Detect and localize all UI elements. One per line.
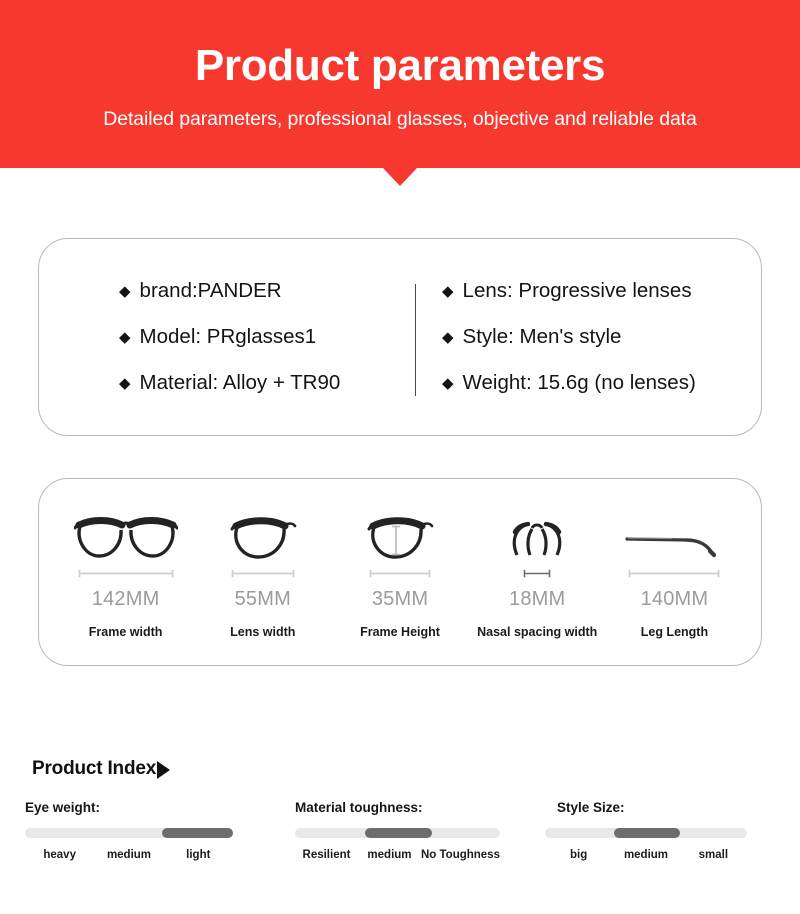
nose-bridge-icon: [499, 507, 575, 561]
measurement-label: Lens width: [230, 625, 295, 639]
lens-height-icon: [365, 507, 435, 561]
index-tick-label: light: [164, 849, 233, 861]
index-slider-track[interactable]: [545, 828, 747, 838]
measurement-bar: [231, 569, 295, 578]
list-item-label: Lens: Progressive lenses: [463, 279, 692, 303]
dimension-line-icon: [628, 569, 720, 578]
measurement-bar: [369, 569, 431, 578]
index-tick-labels: heavy medium light: [25, 849, 233, 861]
index-tick-label: medium: [358, 849, 421, 861]
measurement-value: 35MM: [372, 588, 428, 611]
index-group-style-size: Style Size: big medium small: [532, 800, 800, 861]
index-tick-label: small: [680, 849, 747, 861]
index-slider-track[interactable]: [25, 828, 233, 838]
diamond-bullet-icon: ◆: [119, 330, 131, 345]
dimension-line-icon: [523, 569, 551, 578]
measurement-value: 18MM: [509, 588, 565, 611]
index-slider-fill[interactable]: [614, 828, 681, 838]
measurement-column: 18MM Nasal spacing width: [469, 507, 606, 639]
index-tick-label: Resilient: [295, 849, 358, 861]
product-index-label: Product Index: [32, 758, 156, 780]
measurement-column: 35MM Frame Height: [331, 507, 468, 639]
product-parameters-page: Product parameters Detailed parameters, …: [0, 0, 800, 914]
measurement-column: 140MM Leg Length: [606, 507, 743, 639]
specification-grid: ◆ brand:PANDER ◆ Model: PRglasses1 ◆ Mat…: [39, 239, 761, 435]
measurement-value: 55MM: [235, 588, 291, 611]
dimension-line-icon: [231, 569, 295, 578]
index-group-title: Material toughness:: [295, 800, 532, 815]
list-item: ◆ Model: PRglasses1: [119, 325, 400, 349]
product-index-groups: Eye weight: heavy medium light Material …: [0, 800, 800, 861]
measurement-value: 140MM: [641, 588, 709, 611]
measurement-label: Frame Height: [360, 625, 440, 639]
index-tick-label: big: [545, 849, 612, 861]
index-tick-label: medium: [612, 849, 679, 861]
triangle-right-icon: [157, 761, 170, 779]
index-tick-labels: Resilient medium No Toughness: [295, 849, 500, 861]
diamond-bullet-icon: ◆: [442, 376, 454, 391]
measurement-value: 142MM: [92, 588, 160, 611]
list-item-label: Model: PRglasses1: [140, 325, 317, 349]
measurement-label: Frame width: [89, 625, 163, 639]
list-item-label: Style: Men's style: [463, 325, 622, 349]
index-group-material-toughness: Material toughness: Resilient medium No …: [266, 800, 532, 861]
index-group-title: Eye weight:: [25, 800, 266, 815]
specification-column-left: ◆ brand:PANDER ◆ Model: PRglasses1 ◆ Mat…: [39, 279, 400, 395]
header-banner: Product parameters Detailed parameters, …: [0, 0, 800, 168]
dimension-line-icon: [369, 569, 431, 578]
index-group-title: Style Size:: [557, 800, 800, 815]
measurement-column: 142MM Frame width: [57, 507, 194, 639]
list-item-label: brand:PANDER: [140, 279, 282, 303]
index-tick-label: heavy: [25, 849, 94, 861]
list-item-label: Material: Alloy + TR90: [140, 371, 341, 395]
list-item: ◆ brand:PANDER: [119, 279, 400, 303]
product-index-heading: Product Index: [32, 758, 170, 780]
list-item: ◆ Style: Men's style: [442, 325, 761, 349]
dimension-line-icon: [78, 569, 174, 578]
measurement-card: 142MM Frame width: [38, 478, 762, 666]
index-tick-label: medium: [94, 849, 163, 861]
index-tick-label: No Toughness: [421, 849, 500, 861]
diamond-bullet-icon: ◆: [442, 284, 454, 299]
column-divider: [415, 284, 416, 396]
diamond-bullet-icon: ◆: [442, 330, 454, 345]
specification-card: ◆ brand:PANDER ◆ Model: PRglasses1 ◆ Mat…: [38, 238, 762, 436]
measurement-grid: 142MM Frame width: [39, 479, 761, 665]
measurement-bar: [78, 569, 174, 578]
index-group-eye-weight: Eye weight: heavy medium light: [0, 800, 266, 861]
temple-arm-icon: [624, 507, 724, 561]
list-item-label: Weight: 15.6g (no lenses): [463, 371, 696, 395]
index-tick-labels: big medium small: [545, 849, 747, 861]
specification-column-right: ◆ Lens: Progressive lenses ◆ Style: Men'…: [400, 279, 761, 395]
triangle-down-icon: [383, 168, 417, 186]
glasses-front-icon: [74, 507, 178, 561]
measurement-label: Nasal spacing width: [477, 625, 597, 639]
list-item: ◆ Material: Alloy + TR90: [119, 371, 400, 395]
single-lens-icon: [228, 507, 298, 561]
measurement-bar: [628, 569, 720, 578]
page-title: Product parameters: [195, 43, 605, 89]
index-slider-fill[interactable]: [365, 828, 433, 838]
measurement-label: Leg Length: [641, 625, 708, 639]
diamond-bullet-icon: ◆: [119, 376, 131, 391]
measurement-bar: [523, 569, 551, 578]
measurement-column: 55MM Lens width: [194, 507, 331, 639]
list-item: ◆ Lens: Progressive lenses: [442, 279, 761, 303]
diamond-bullet-icon: ◆: [119, 284, 131, 299]
page-subtitle: Detailed parameters, professional glasse…: [103, 108, 697, 131]
list-item: ◆ Weight: 15.6g (no lenses): [442, 371, 761, 395]
index-slider-fill[interactable]: [162, 828, 233, 838]
index-slider-track[interactable]: [295, 828, 500, 838]
